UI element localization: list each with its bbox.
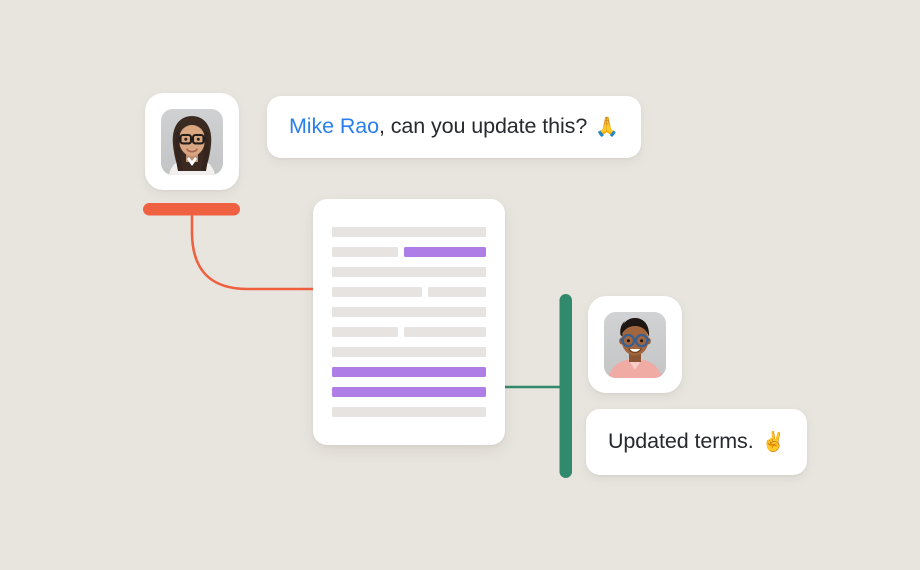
document-text-segment (332, 227, 486, 237)
document-line-row (332, 307, 486, 317)
document-text-placeholder-lines (332, 227, 486, 417)
avatar-card-responder[interactable] (588, 296, 682, 393)
avatar-woman-glasses (161, 109, 223, 175)
orange-leader-line (192, 213, 316, 289)
mention-mike-rao[interactable]: Mike Rao (289, 114, 379, 138)
reply-text: Updated terms. (608, 431, 754, 453)
document-line-row (332, 387, 486, 397)
document-highlight-segment (332, 387, 486, 397)
document-text-segment (404, 327, 486, 337)
document-line-row (332, 247, 486, 257)
document-text-segment (332, 327, 398, 337)
document-text-segment (332, 307, 486, 317)
document-line-row (332, 267, 486, 277)
document-line-row (332, 407, 486, 417)
document-line-row (332, 227, 486, 237)
comment-bubble-reply[interactable]: Updated terms. ✌️ (586, 409, 807, 475)
document-text-segment (428, 287, 486, 297)
document-highlight-segment (332, 367, 486, 377)
victory-hand-emoji: ✌️ (762, 433, 786, 452)
comment-text-rest: , can you update this? (379, 114, 587, 138)
document-line-row (332, 327, 486, 337)
document-text-segment (332, 287, 422, 297)
document-highlight-segment (404, 247, 486, 257)
avatar-man-glasses (604, 312, 666, 378)
document-line-row (332, 347, 486, 357)
avatar-card-commenter[interactable] (145, 93, 239, 190)
illustration-canvas: Mike Rao, can you update this? 🙏 (0, 0, 920, 570)
document-text-segment (332, 347, 486, 357)
document-text-segment (332, 267, 486, 277)
document-line-row (332, 287, 486, 297)
document-card[interactable] (313, 199, 505, 445)
comment-text: Mike Rao, can you update this? (289, 116, 587, 138)
document-line-row (332, 367, 486, 377)
folded-hands-emoji: 🙏 (595, 118, 619, 137)
comment-bubble-request[interactable]: Mike Rao, can you update this? 🙏 (267, 96, 641, 158)
document-text-segment (332, 407, 486, 417)
document-text-segment (332, 247, 398, 257)
avatar-woman-glasses-image (161, 109, 223, 175)
avatar-man-glasses-image (604, 312, 666, 378)
